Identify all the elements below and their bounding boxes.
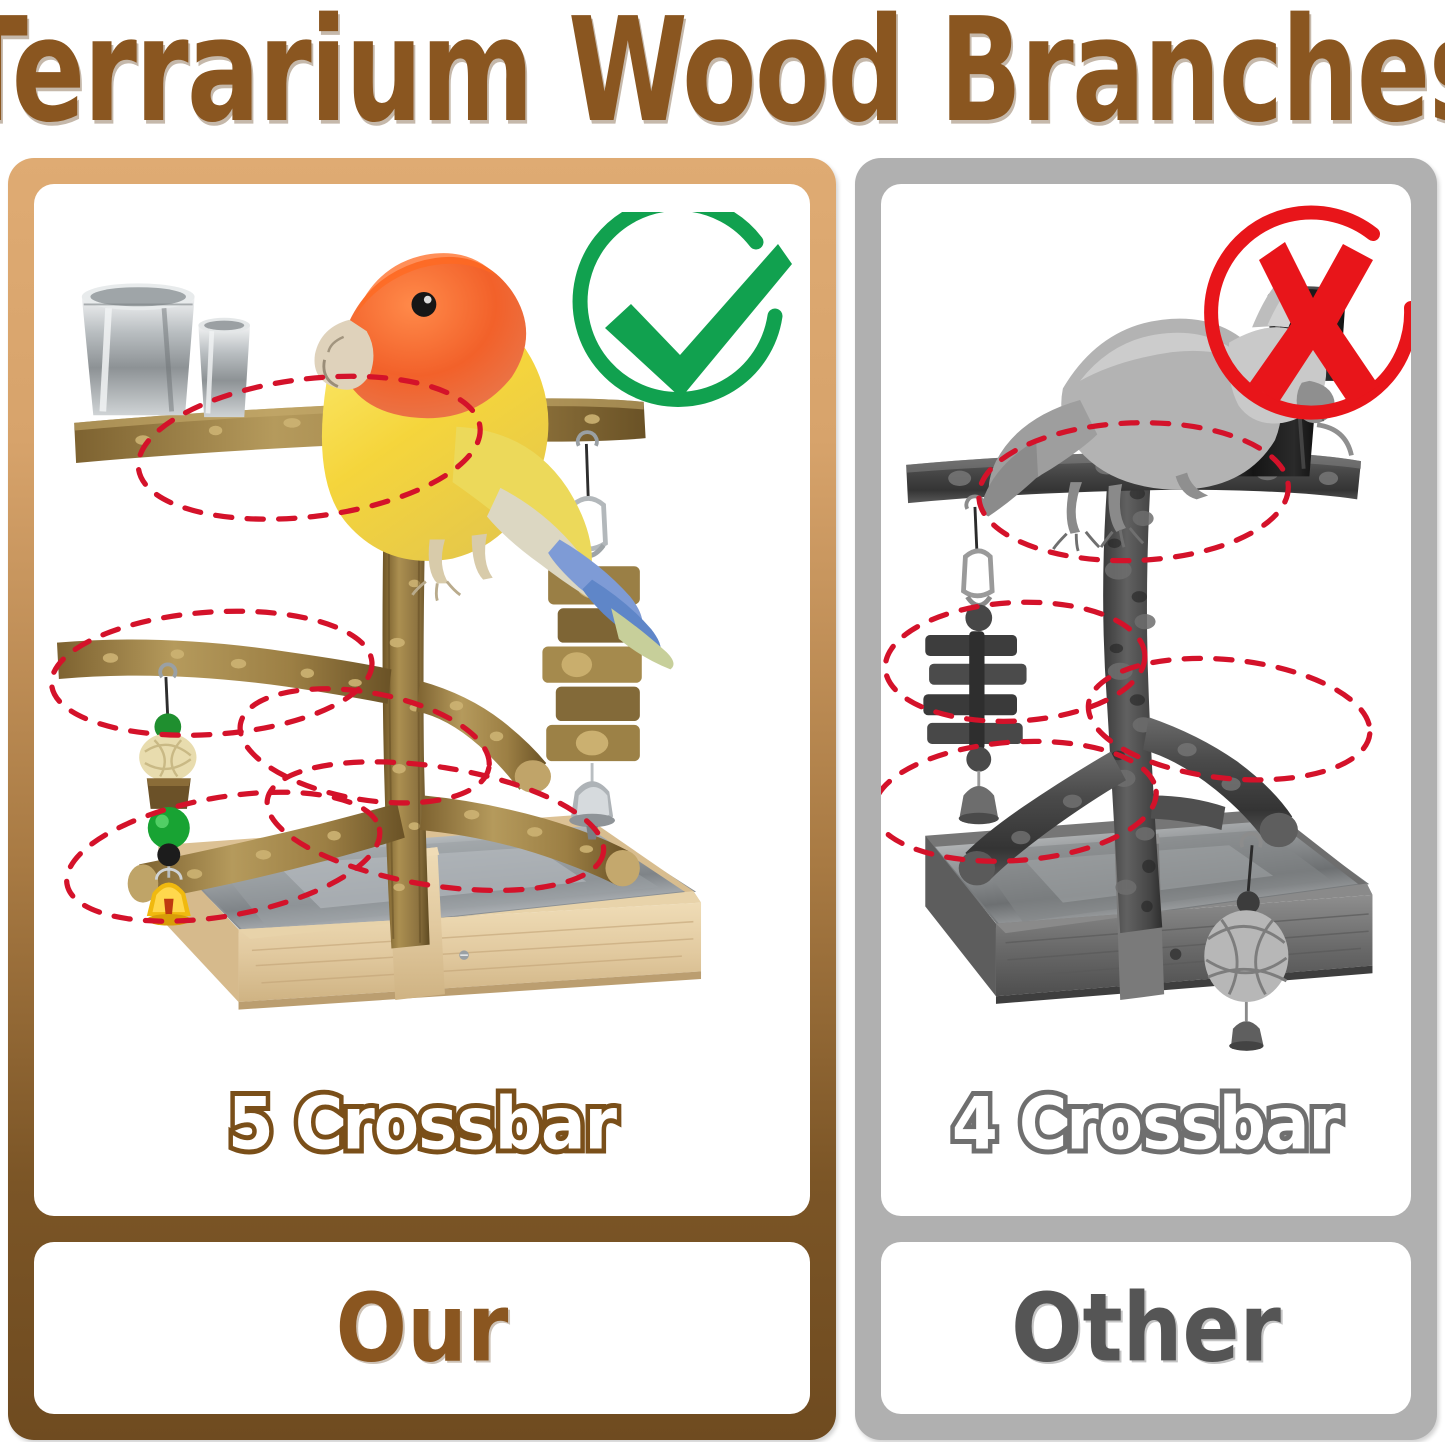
green-check-circle-icon	[562, 212, 792, 442]
product-photo-panel-our: 5 Crossbar	[34, 184, 810, 1216]
title-bar: Terrarium Wood Branches	[0, 0, 1445, 140]
footer-panel-other: Other	[881, 1242, 1411, 1414]
comparison-card-our: 5 Crossbar Our	[8, 158, 836, 1440]
wood-ladder-toy-other	[923, 496, 1026, 824]
feeder-cup-large	[82, 283, 195, 415]
feeder-cup-small	[198, 318, 250, 417]
footer-label-our: Our	[336, 1281, 509, 1375]
crossbar-2	[57, 639, 391, 703]
page-title: Terrarium Wood Branches	[0, 0, 1445, 142]
card-divider-other	[881, 1216, 1411, 1242]
product-photo-panel-other: 4 Crossbar	[881, 184, 1411, 1216]
comparison-card-other: 4 Crossbar Other	[855, 158, 1437, 1440]
crossbar-count-label-other: 4 Crossbar	[881, 1081, 1411, 1166]
crossbar-count-label-our: 5 Crossbar	[34, 1081, 810, 1166]
card-divider-our	[34, 1216, 810, 1242]
footer-panel-our: Our	[34, 1242, 810, 1414]
footer-label-other: Other	[1011, 1281, 1281, 1375]
red-x-circle-icon	[1197, 212, 1411, 442]
